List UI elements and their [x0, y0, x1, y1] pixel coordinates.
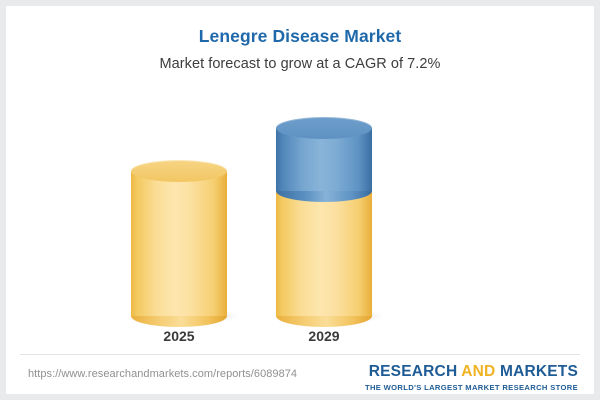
footer-divider: [20, 354, 580, 355]
logo-text-research: RESEARCH: [369, 363, 462, 380]
logo-text-and: AND: [461, 363, 500, 380]
chart-card: Lenegre Disease Market Market forecast t…: [6, 6, 594, 394]
logo-text-markets: MARKETS: [500, 363, 578, 380]
logo-wordmark: RESEARCH AND MARKETS: [365, 363, 578, 381]
cylinder-top-cap: [276, 117, 372, 139]
x-axis-tick-2029: 2029: [249, 328, 399, 344]
cylinder-top-cap: [131, 160, 227, 182]
bar-cylinder-2029[interactable]: [276, 128, 372, 316]
bar-cylinder-2025[interactable]: [131, 171, 227, 316]
logo-tagline: THE WORLD'S LARGEST MARKET RESEARCH STOR…: [365, 383, 578, 392]
bar-segment-base: [131, 171, 227, 316]
x-axis-tick-2025: 2025: [104, 328, 254, 344]
cylinder-body: [131, 171, 227, 316]
cylinder-body: [276, 191, 372, 316]
bar-segment-growth: [276, 128, 372, 191]
brand-logo[interactable]: RESEARCH AND MARKETS THE WORLD'S LARGEST…: [365, 363, 578, 392]
bar-segment-base: [276, 191, 372, 316]
report-url-link[interactable]: https://www.researchandmarkets.com/repor…: [28, 368, 297, 380]
chart-plot-area: USD 0.77 Billion 2025 USD 1.02 Billion: [6, 6, 594, 354]
